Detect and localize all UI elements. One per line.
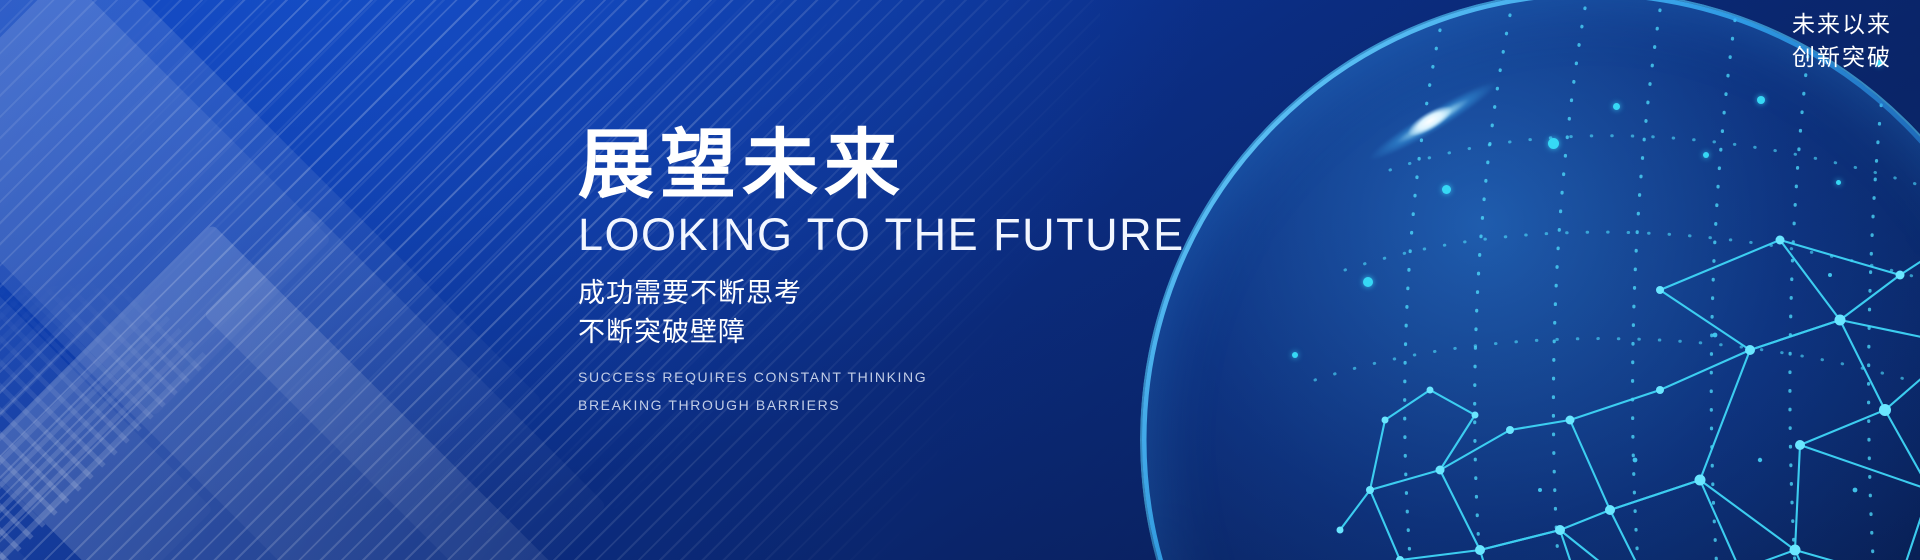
- chinese-tagline-line-2: 不断突破壁障: [578, 313, 1338, 351]
- chinese-tagline-block: 成功需要不断思考 不断突破壁障: [578, 274, 1338, 351]
- page-title: 展望未来: [578, 128, 1338, 204]
- floating-dot: [1703, 152, 1709, 158]
- diagonal-panel-5: [203, 208, 606, 560]
- diagonal-panel-6: [0, 325, 75, 560]
- corner-tagline: 未来以来 创新突破: [1792, 8, 1892, 73]
- floating-dot: [1442, 185, 1451, 194]
- floating-dot: [1757, 96, 1765, 104]
- hero-banner: 未来以来 创新突破 展望未来 LOOKING TO THE FUTURE 成功需…: [0, 0, 1920, 560]
- chinese-tagline-line-1: 成功需要不断思考: [578, 274, 1338, 312]
- lens-flare-core: [1397, 95, 1463, 147]
- floating-dot: [1613, 103, 1620, 110]
- diagonal-panel-4: [0, 224, 651, 560]
- floating-dot: [1363, 277, 1373, 287]
- diagonal-panel-1: [0, 0, 331, 416]
- corner-tagline-line-1: 未来以来: [1792, 8, 1892, 41]
- floating-dot: [1548, 138, 1559, 149]
- diagonal-panel-2: [0, 0, 542, 560]
- english-tagline-line-2: BREAKING THROUGH BARRIERS: [578, 391, 1338, 419]
- diagonal-panel-3: [0, 142, 213, 560]
- english-tagline-line-1: SUCCESS REQUIRES CONSTANT THINKING: [578, 363, 1338, 391]
- page-subtitle-en: LOOKING TO THE FUTURE: [578, 210, 1338, 260]
- hero-copy: 展望未来 LOOKING TO THE FUTURE 成功需要不断思考 不断突破…: [578, 128, 1338, 419]
- english-tagline-block: SUCCESS REQUIRES CONSTANT THINKING BREAK…: [578, 363, 1338, 419]
- diamond-dot-grid: [0, 147, 210, 560]
- floating-dot: [1836, 180, 1841, 185]
- corner-tagline-line-2: 创新突破: [1792, 41, 1892, 74]
- lens-flare-icon: [1345, 61, 1521, 181]
